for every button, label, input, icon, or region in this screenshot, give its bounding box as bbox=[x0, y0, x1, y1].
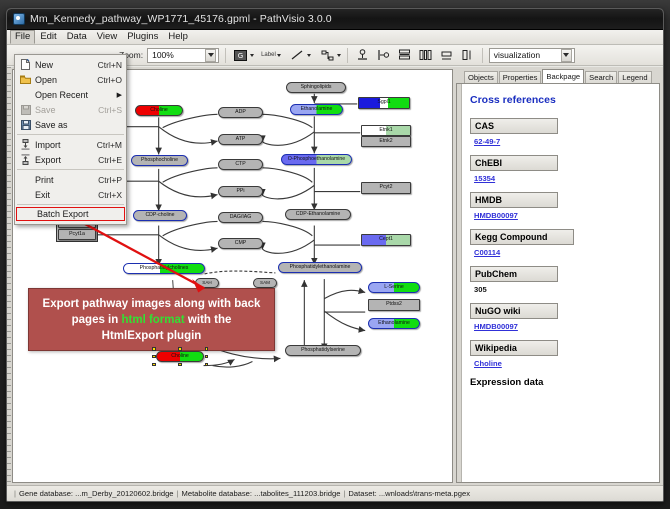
xref-source-label: HMDB bbox=[470, 192, 558, 208]
title-bar: Mm_Kennedy_pathway_WP1771_45176.gpml - P… bbox=[7, 9, 663, 30]
menu-separator bbox=[17, 204, 124, 205]
save-disk-icon bbox=[19, 105, 32, 115]
status-divider: | bbox=[343, 489, 345, 498]
node-cdp-choline[interactable]: CDP-choline bbox=[133, 210, 187, 221]
xref-chebi: ChEBI 15354 bbox=[470, 155, 649, 183]
status-dataset-value: ...wnloads\trans-meta.pgex bbox=[379, 489, 470, 498]
node-sphingolipids[interactable]: Sphingolipids bbox=[286, 82, 346, 93]
xref-value-link[interactable]: 62-49-7 bbox=[474, 137, 649, 146]
menu-bar: File Edit Data View Plugins Help bbox=[7, 30, 663, 45]
node-phosphatidylserine[interactable]: Phosphatidylserine bbox=[285, 345, 361, 356]
stack-horizontal-icon[interactable] bbox=[417, 47, 434, 63]
diagonal-line-icon[interactable] bbox=[289, 47, 306, 63]
xref-nugo-wiki: NuGO wiki HMDB00097 bbox=[470, 303, 649, 331]
xref-value-link[interactable]: Choline bbox=[474, 359, 649, 368]
file-menu-item-save: Save Ctrl+S bbox=[15, 102, 126, 117]
xref-source-label: PubChem bbox=[470, 266, 558, 282]
file-menu-item-export[interactable]: Export Ctrl+E bbox=[15, 152, 126, 167]
file-menu-item-save-as[interactable]: Save as bbox=[15, 117, 126, 132]
zoom-combobox[interactable]: 100% bbox=[147, 48, 219, 63]
file-menu-accel: Ctrl+E bbox=[94, 155, 122, 165]
node-cdp-ethanolamine[interactable]: CDP-Ethanolamine bbox=[285, 209, 351, 220]
menu-edit[interactable]: Edit bbox=[35, 30, 61, 44]
annotation-callout: Export pathway images along with back pa… bbox=[28, 288, 275, 351]
node-ptdss2[interactable]: Ptdss2 bbox=[368, 299, 420, 311]
menu-separator bbox=[17, 134, 124, 135]
chevron-down-icon[interactable] bbox=[307, 54, 311, 57]
file-menu-label: Print bbox=[32, 175, 94, 185]
tab-backpage[interactable]: Backpage bbox=[542, 69, 584, 83]
cross-references-heading: Cross references bbox=[470, 94, 649, 106]
size-equal-width-icon[interactable] bbox=[438, 47, 455, 63]
status-divider: | bbox=[14, 489, 16, 498]
import-icon bbox=[19, 139, 32, 150]
node-etnk2[interactable]: Etnk2 bbox=[361, 136, 411, 147]
menu-help[interactable]: Help bbox=[163, 30, 193, 44]
menu-view[interactable]: View bbox=[92, 30, 122, 44]
chevron-right-icon: ▶ bbox=[117, 91, 122, 99]
file-menu-dropdown[interactable]: New Ctrl+N Open Ctrl+O Open Recent ▶ Sav bbox=[14, 54, 127, 225]
xref-source-label: ChEBI bbox=[470, 155, 558, 171]
status-bar: | Gene database: ...m_Derby_20120602.bri… bbox=[7, 485, 663, 501]
menu-data[interactable]: Data bbox=[62, 30, 92, 44]
tab-properties[interactable]: Properties bbox=[499, 71, 542, 83]
save-as-icon bbox=[19, 120, 32, 130]
xref-value-link[interactable]: HMDB00097 bbox=[474, 211, 649, 220]
status-divider: | bbox=[177, 489, 179, 498]
node-sah[interactable]: SAH bbox=[195, 278, 219, 288]
node-ppi[interactable]: PPi bbox=[218, 186, 263, 197]
xref-pubchem: PubChem 305 bbox=[470, 266, 649, 294]
file-menu-item-print[interactable]: Print Ctrl+P bbox=[15, 172, 126, 187]
tab-objects[interactable]: Objects bbox=[464, 71, 498, 83]
tab-search[interactable]: Search bbox=[585, 71, 617, 83]
xref-value-text: 305 bbox=[474, 285, 649, 294]
file-menu-label: Open bbox=[32, 75, 93, 85]
xref-value-link[interactable]: 15354 bbox=[474, 174, 649, 183]
selection-handles[interactable] bbox=[152, 347, 208, 366]
xref-kegg-compound: Kegg Compound C00114 bbox=[470, 229, 649, 257]
size-equal-height-icon[interactable] bbox=[459, 47, 476, 63]
node-sgpl1[interactable]: Sgpl1 bbox=[358, 97, 410, 109]
xref-source-label: CAS bbox=[470, 118, 558, 134]
file-menu-label: Save as bbox=[32, 120, 118, 130]
status-gene-database-label: Gene database: bbox=[19, 489, 73, 498]
callout-line-2-pre: pages in bbox=[72, 314, 122, 326]
open-folder-icon bbox=[19, 75, 32, 84]
backpage-content: Cross references CAS 62-49-7 ChEBI 15354… bbox=[456, 83, 660, 483]
xref-source-label: Kegg Compound bbox=[470, 229, 574, 245]
menu-separator bbox=[17, 169, 124, 170]
window-title: Mm_Kennedy_pathway_WP1771_45176.gpml - P… bbox=[30, 13, 332, 25]
file-menu-item-open[interactable]: Open Ctrl+O bbox=[15, 72, 126, 87]
chevron-down-icon[interactable] bbox=[250, 54, 254, 57]
node-l-serine[interactable]: L-Serine bbox=[368, 282, 420, 293]
node-choline-top[interactable]: Choline bbox=[135, 105, 183, 116]
file-menu-item-exit[interactable]: Exit Ctrl+X bbox=[15, 187, 126, 202]
new-file-icon bbox=[19, 59, 32, 70]
vertical-ruler bbox=[7, 67, 11, 485]
file-menu-label: New bbox=[32, 60, 94, 70]
export-icon bbox=[19, 154, 32, 165]
callout-line-1: Export pathway images along with back bbox=[43, 296, 261, 312]
file-menu-accel: Ctrl+P bbox=[94, 175, 122, 185]
file-menu-label: Export bbox=[32, 155, 94, 165]
node-ethanolamine-low[interactable]: Ethanolamine bbox=[368, 318, 420, 329]
elbow-connector-icon[interactable] bbox=[319, 47, 336, 63]
label-tool-text: Label bbox=[261, 52, 276, 58]
line-tool[interactable] bbox=[289, 47, 311, 63]
file-menu-label: Exit bbox=[32, 190, 94, 200]
callout-line-2-post: with the bbox=[185, 314, 232, 326]
file-menu-accel: Ctrl+S bbox=[94, 105, 122, 115]
file-menu-item-import[interactable]: Import Ctrl+M bbox=[15, 137, 126, 152]
status-metabolite-database-label: Metabolite database: bbox=[182, 489, 253, 498]
chevron-down-icon[interactable] bbox=[337, 54, 341, 57]
status-dataset-label: Dataset: bbox=[348, 489, 376, 498]
xref-source-label: NuGO wiki bbox=[470, 303, 558, 319]
status-gene-database-value: ...m_Derby_20120602.bridge bbox=[75, 489, 173, 498]
node-ctp[interactable]: CTP bbox=[218, 159, 263, 170]
tab-legend[interactable]: Legend bbox=[618, 71, 651, 83]
zoom-value: 100% bbox=[152, 50, 174, 60]
pathvisio-icon bbox=[13, 13, 25, 25]
svg-text:G: G bbox=[238, 52, 243, 60]
file-menu-label: Save bbox=[32, 105, 94, 115]
menu-file[interactable]: File bbox=[10, 30, 35, 44]
node-o-phosphoethanolamine[interactable]: O-Phosphoethanolamine bbox=[281, 154, 352, 165]
file-menu-item-new[interactable]: New Ctrl+N bbox=[15, 57, 126, 72]
node-ethanolamine-top[interactable]: Ethanolamine bbox=[290, 104, 343, 115]
callout-line-3: HtmlExport plugin bbox=[102, 328, 202, 344]
geneproduct-icon[interactable]: G bbox=[232, 47, 249, 63]
xref-value-link[interactable]: HMDB00097 bbox=[474, 322, 649, 331]
node-adp[interactable]: ADP bbox=[218, 107, 263, 118]
chevron-down-icon[interactable] bbox=[205, 49, 216, 62]
callout-line-2-green: html format bbox=[121, 314, 184, 326]
visualization-value: visualization bbox=[494, 50, 540, 60]
file-menu-accel: Ctrl+N bbox=[94, 60, 122, 70]
align-top-icon[interactable] bbox=[354, 47, 371, 63]
status-metabolite-database-value: ...tabolites_111203.bridge bbox=[254, 489, 340, 498]
node-sam[interactable]: SAM bbox=[253, 278, 277, 288]
node-cept1[interactable]: Cept1 bbox=[361, 234, 411, 246]
side-panel: Objects Properties Backpage Search Legen… bbox=[455, 67, 663, 485]
node-phosphatidylcholines[interactable]: Phosphatidylcholines bbox=[123, 263, 205, 274]
callout-line-2: pages in html format with the bbox=[72, 312, 232, 328]
menu-plugins[interactable]: Plugins bbox=[122, 30, 163, 44]
node-phosphocholine[interactable]: Phosphocholine bbox=[131, 155, 188, 166]
file-menu-label: Import bbox=[32, 140, 93, 150]
label-tool[interactable]: Label bbox=[261, 52, 281, 58]
chevron-down-icon[interactable] bbox=[561, 49, 572, 62]
file-menu-accel: Ctrl+M bbox=[93, 140, 122, 150]
visualization-combobox[interactable]: visualization bbox=[489, 48, 575, 63]
xref-source-label: Wikipedia bbox=[470, 340, 558, 356]
file-menu-accel: Ctrl+O bbox=[93, 75, 122, 85]
file-menu-label: Open Recent bbox=[32, 90, 117, 100]
xref-hmdb: HMDB HMDB00097 bbox=[470, 192, 649, 220]
file-menu-item-open-recent[interactable]: Open Recent ▶ bbox=[15, 87, 126, 102]
datanode-tool[interactable]: G bbox=[232, 47, 254, 63]
node-pcyt1a[interactable]: Pcyt1a bbox=[58, 229, 96, 240]
file-menu-accel: Ctrl+X bbox=[94, 190, 122, 200]
node-etnk1[interactable]: Etnk1 bbox=[361, 125, 411, 136]
node-atp[interactable]: ATP bbox=[218, 134, 263, 145]
xref-value-link[interactable]: C00114 bbox=[474, 248, 649, 257]
file-menu-label: Batch Export bbox=[34, 209, 120, 219]
xref-cas: CAS 62-49-7 bbox=[470, 118, 649, 146]
node-dag-iag[interactable]: DAG/IAG bbox=[218, 212, 263, 223]
chevron-down-icon[interactable] bbox=[277, 54, 281, 57]
node-phosphatidylethanolamine[interactable]: Phosphatidylethanolamine bbox=[278, 262, 362, 273]
node-cmp[interactable]: CMP bbox=[218, 238, 263, 249]
file-menu-item-batch-export[interactable]: Batch Export bbox=[16, 207, 125, 221]
align-left-icon[interactable] bbox=[375, 47, 392, 63]
side-panel-tabstrip: Objects Properties Backpage Search Legen… bbox=[456, 69, 660, 83]
xref-wikipedia: Wikipedia Choline bbox=[470, 340, 649, 368]
interaction-tool[interactable] bbox=[319, 47, 341, 63]
node-pcyt2[interactable]: Pcyt2 bbox=[361, 182, 411, 194]
pathvisio-window: Mm_Kennedy_pathway_WP1771_45176.gpml - P… bbox=[6, 8, 664, 502]
expression-data-heading: Expression data bbox=[470, 377, 649, 388]
desktop-background: Mm_Kennedy_pathway_WP1771_45176.gpml - P… bbox=[0, 0, 670, 509]
stack-vertical-icon[interactable] bbox=[396, 47, 413, 63]
